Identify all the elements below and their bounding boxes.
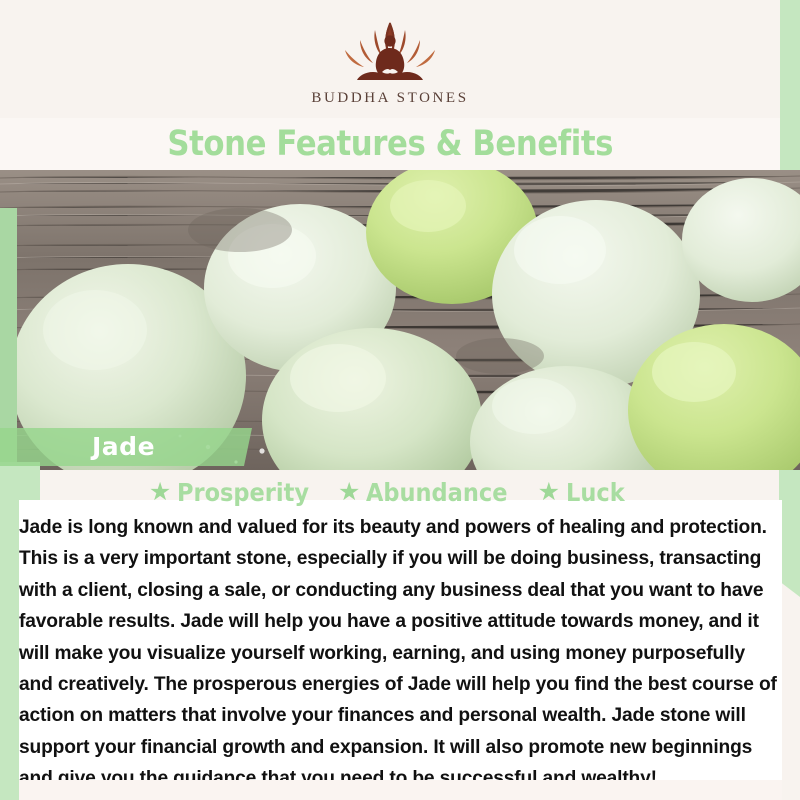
benefit-label: Luck <box>566 478 625 507</box>
bottom-strip <box>19 780 782 800</box>
decoration-left-green-bar-lower <box>0 462 19 800</box>
benefit-item-abundance: ★ Abundance <box>338 478 524 507</box>
page-title: Stone Features & Benefits <box>167 124 613 164</box>
stone-name-label: Jade <box>92 430 155 464</box>
stone-description: Jade is long known and valued for its be… <box>19 508 782 800</box>
stone-description-text: Jade is long known and valued for its be… <box>19 512 782 795</box>
star-icon: ★ <box>538 480 560 505</box>
benefits-row: ★ Prosperity ★ Abundance ★ Luck <box>0 478 780 507</box>
star-icon: ★ <box>149 480 171 505</box>
lotus-meditation-icon <box>315 16 465 88</box>
star-icon: ★ <box>338 480 360 505</box>
benefit-label: Prosperity <box>177 478 309 507</box>
brand-header: BUDDHA STONES <box>0 0 780 118</box>
stone-photo <box>0 170 800 470</box>
poster-root: BUDDHA STONES Stone Features & Benefits <box>0 0 800 800</box>
stone-photo-illustration <box>0 170 800 470</box>
benefit-item-prosperity: ★ Prosperity <box>149 478 324 507</box>
benefit-item-luck: ★ Luck <box>538 478 632 507</box>
title-band: Stone Features & Benefits <box>0 118 780 170</box>
benefit-label: Abundance <box>366 478 507 507</box>
brand-name: BUDDHA STONES <box>311 90 468 107</box>
decoration-left-green-bar-upper <box>0 208 17 462</box>
